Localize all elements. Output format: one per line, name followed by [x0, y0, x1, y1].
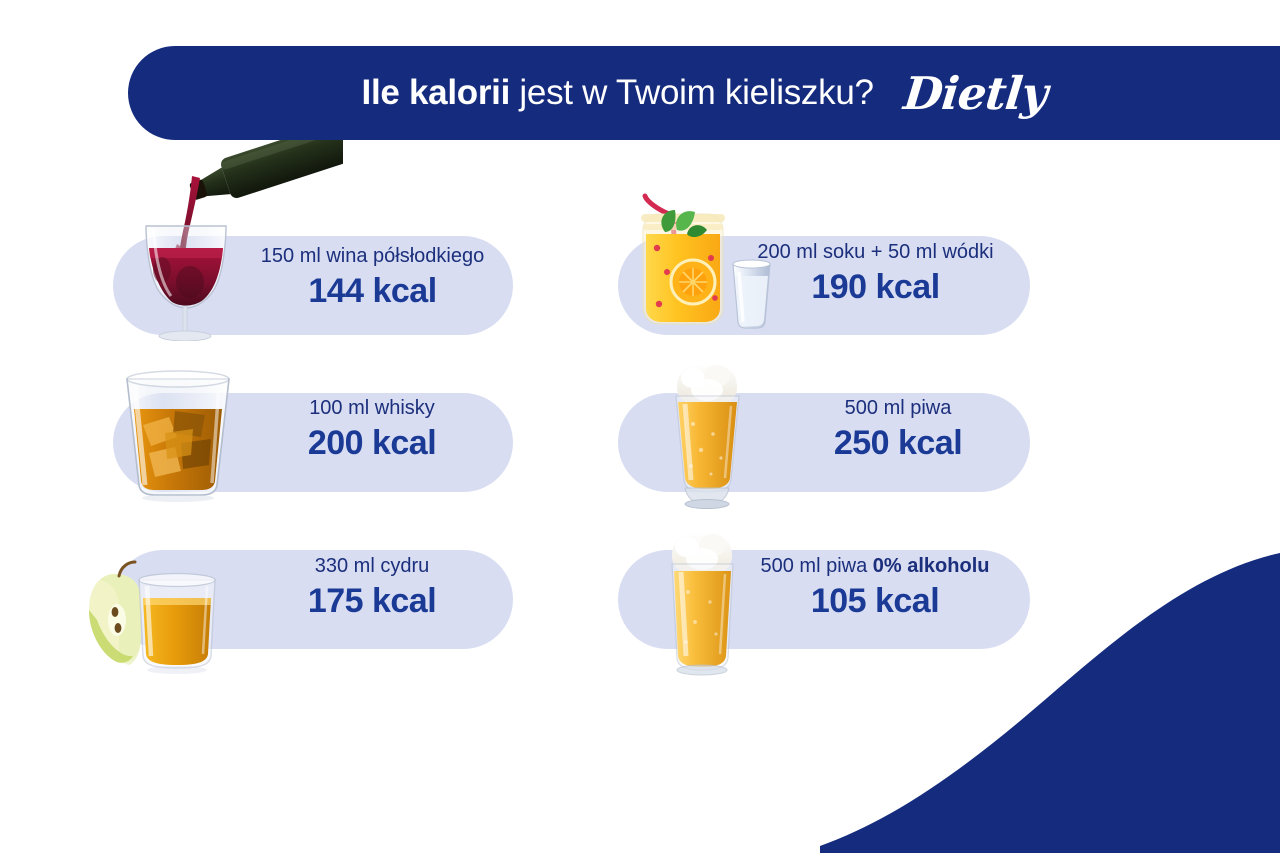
- card-label: 500 ml piwa 0% alkoholu: [761, 554, 990, 579]
- calorie-card-beer-text: 500 ml piwa 250 kcal: [768, 396, 1028, 465]
- page-title: Ile kalorii jest w Twoim kieliszku?: [362, 73, 874, 113]
- page-title-emphasis: Ile kalorii: [362, 73, 510, 112]
- card-label-plain: 500 ml piwa: [761, 555, 873, 577]
- card-kcal-value: 250 kcal: [834, 421, 962, 465]
- card-kcal-value: 175 kcal: [308, 579, 436, 623]
- card-label: 150 ml wina półsłodkiego: [261, 244, 484, 269]
- card-kcal-value: 190 kcal: [811, 265, 939, 309]
- card-label: 330 ml cydru: [315, 554, 430, 579]
- page-title-rest: jest w Twoim kieliszku?: [510, 73, 874, 112]
- card-label: 500 ml piwa: [845, 396, 952, 421]
- card-label: 100 ml whisky: [309, 396, 435, 421]
- calorie-card-cider-text: 330 ml cydru 175 kcal: [232, 554, 512, 623]
- dietly-logo: Dietly: [901, 67, 1049, 120]
- card-label: 200 ml soku + 50 ml wódki: [757, 240, 993, 265]
- calorie-card-juice-vodka-text: 200 ml soku + 50 ml wódki 190 kcal: [728, 240, 1023, 309]
- calorie-card-beer-nonalcoholic-text: 500 ml piwa 0% alkoholu 105 kcal: [730, 554, 1020, 623]
- card-kcal-value: 144 kcal: [308, 269, 436, 313]
- header-banner: Ile kalorii jest w Twoim kieliszku? Diet…: [128, 46, 1280, 140]
- card-kcal-value: 200 kcal: [308, 421, 436, 465]
- calorie-card-wine-text: 150 ml wina półsłodkiego 144 kcal: [230, 244, 515, 313]
- calorie-card-whisky-text: 100 ml whisky 200 kcal: [232, 396, 512, 465]
- card-kcal-value: 105 kcal: [811, 579, 939, 623]
- card-label-emphasis: 0% alkoholu: [873, 555, 990, 577]
